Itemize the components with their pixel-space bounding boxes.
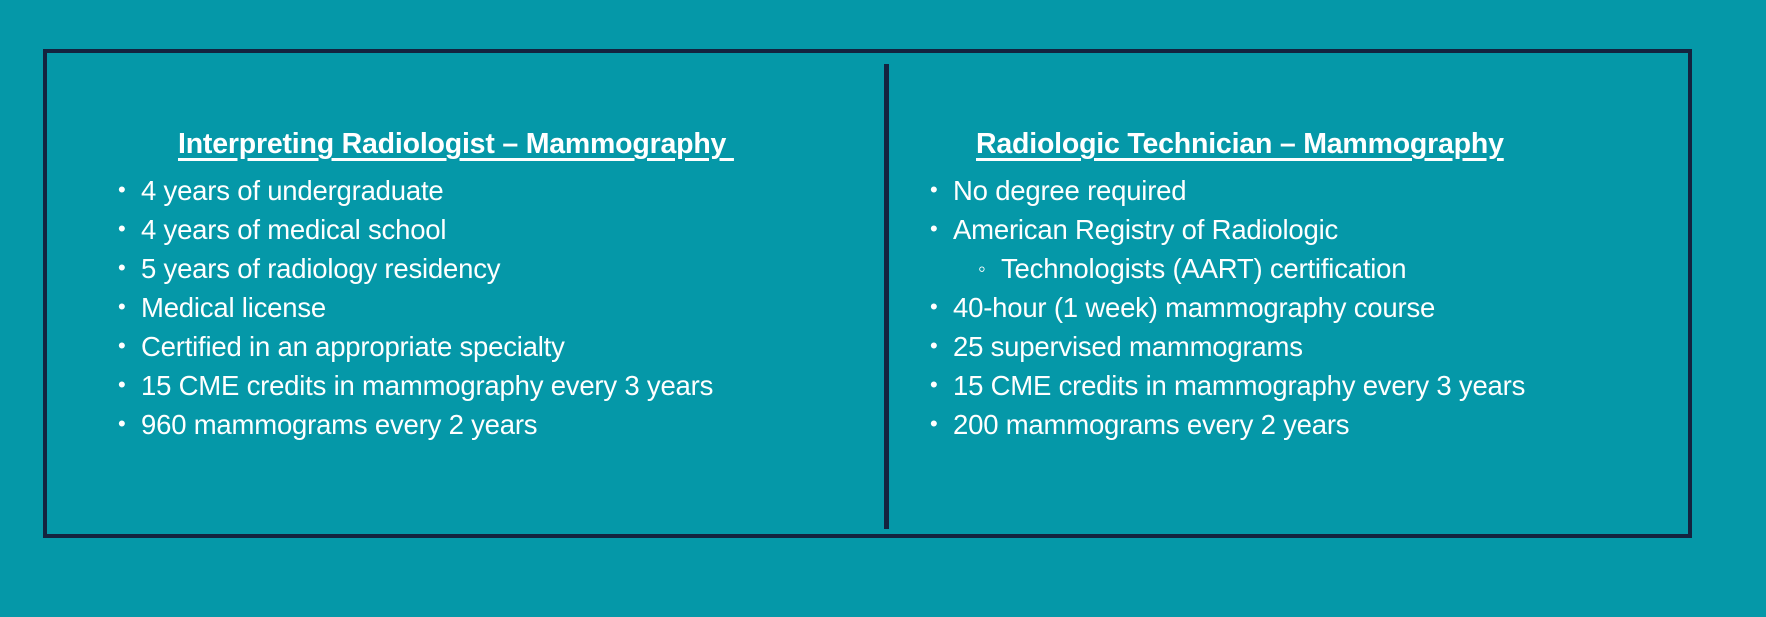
list-item: American Registry of Radiologic: [928, 210, 1672, 249]
column-title-interpreting-radiologist: Interpreting Radiologist – Mammography: [116, 128, 858, 161]
list-item-sub: Technologists (AART) certification: [928, 249, 1672, 288]
column-title-radiologic-technician: Radiologic Technician – Mammography: [928, 128, 1672, 161]
list-item: 4 years of medical school: [116, 210, 858, 249]
requirements-list-interpreting-radiologist: 4 years of undergraduate 4 years of medi…: [116, 171, 858, 444]
list-item: 25 supervised mammograms: [928, 327, 1672, 366]
list-item: 4 years of undergraduate: [116, 171, 858, 210]
requirements-list-radiologic-technician: No degree required American Registry of …: [928, 171, 1672, 444]
list-item: 40-hour (1 week) mammography course: [928, 288, 1672, 327]
list-item: No degree required: [928, 171, 1672, 210]
list-item: 15 CME credits in mammography every 3 ye…: [116, 366, 858, 405]
list-item: Medical license: [116, 288, 858, 327]
comparison-slide: Interpreting Radiologist – Mammography 4…: [0, 0, 1766, 617]
comparison-columns: Interpreting Radiologist – Mammography 4…: [43, 49, 1692, 538]
list-item: 960 mammograms every 2 years: [116, 405, 858, 444]
list-item: Certified in an appropriate specialty: [116, 327, 858, 366]
list-item: 200 mammograms every 2 years: [928, 405, 1672, 444]
list-item: 5 years of radiology residency: [116, 249, 858, 288]
list-item: 15 CME credits in mammography every 3 ye…: [928, 366, 1672, 405]
column-radiologic-technician: Radiologic Technician – Mammography No d…: [888, 49, 1692, 538]
column-interpreting-radiologist: Interpreting Radiologist – Mammography 4…: [43, 49, 888, 538]
